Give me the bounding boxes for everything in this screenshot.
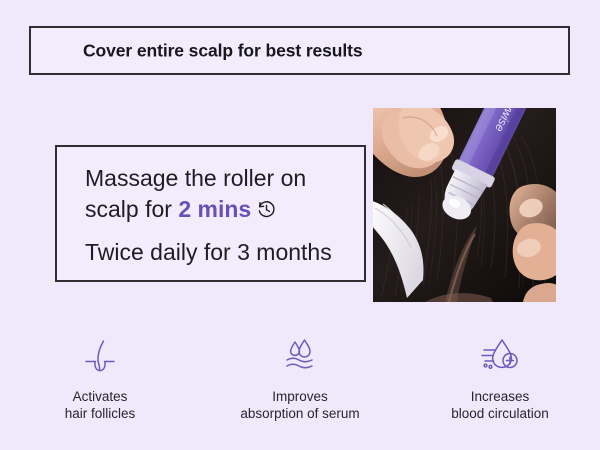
instruction-line-1: Massage the roller on [85, 163, 356, 194]
header-banner: Cover entire scalp for best results [29, 26, 570, 75]
benefit-item-improves-absorption: Improves absorption of serum [200, 334, 400, 422]
page-title: Cover entire scalp for best results [83, 40, 363, 61]
clock-icon [256, 197, 277, 228]
benefit-label: Increases blood circulation [451, 388, 549, 422]
instruction-line-2-prefix: scalp for [85, 196, 178, 222]
instruction-text-group: Massage the roller on scalp for 2 mins T… [85, 163, 356, 268]
scalp-application-photo: bodywise [373, 108, 556, 302]
benefit-item-increases-blood-circulation: Increases blood circulation [400, 334, 600, 422]
instruction-callout: Massage the roller on scalp for 2 mins T… [55, 145, 366, 282]
instruction-line-2: scalp for 2 mins [85, 194, 356, 228]
benefit-item-activates-hair-follicles: Activates hair follicles [0, 334, 200, 422]
benefits-row: Activates hair follicles Improves absorp… [0, 334, 600, 422]
blood-circulation-icon [476, 334, 524, 378]
serum-drops-icon [276, 334, 324, 378]
hair-follicle-icon [78, 334, 122, 378]
infographic-canvas: Cover entire scalp for best results [0, 0, 600, 450]
duration-value: 2 mins [178, 196, 251, 222]
benefit-label: Activates hair follicles [65, 388, 136, 422]
photo-artwork: bodywise [373, 108, 556, 302]
instruction-line-3: Twice daily for 3 months [85, 237, 356, 268]
benefit-label: Improves absorption of serum [240, 388, 359, 422]
